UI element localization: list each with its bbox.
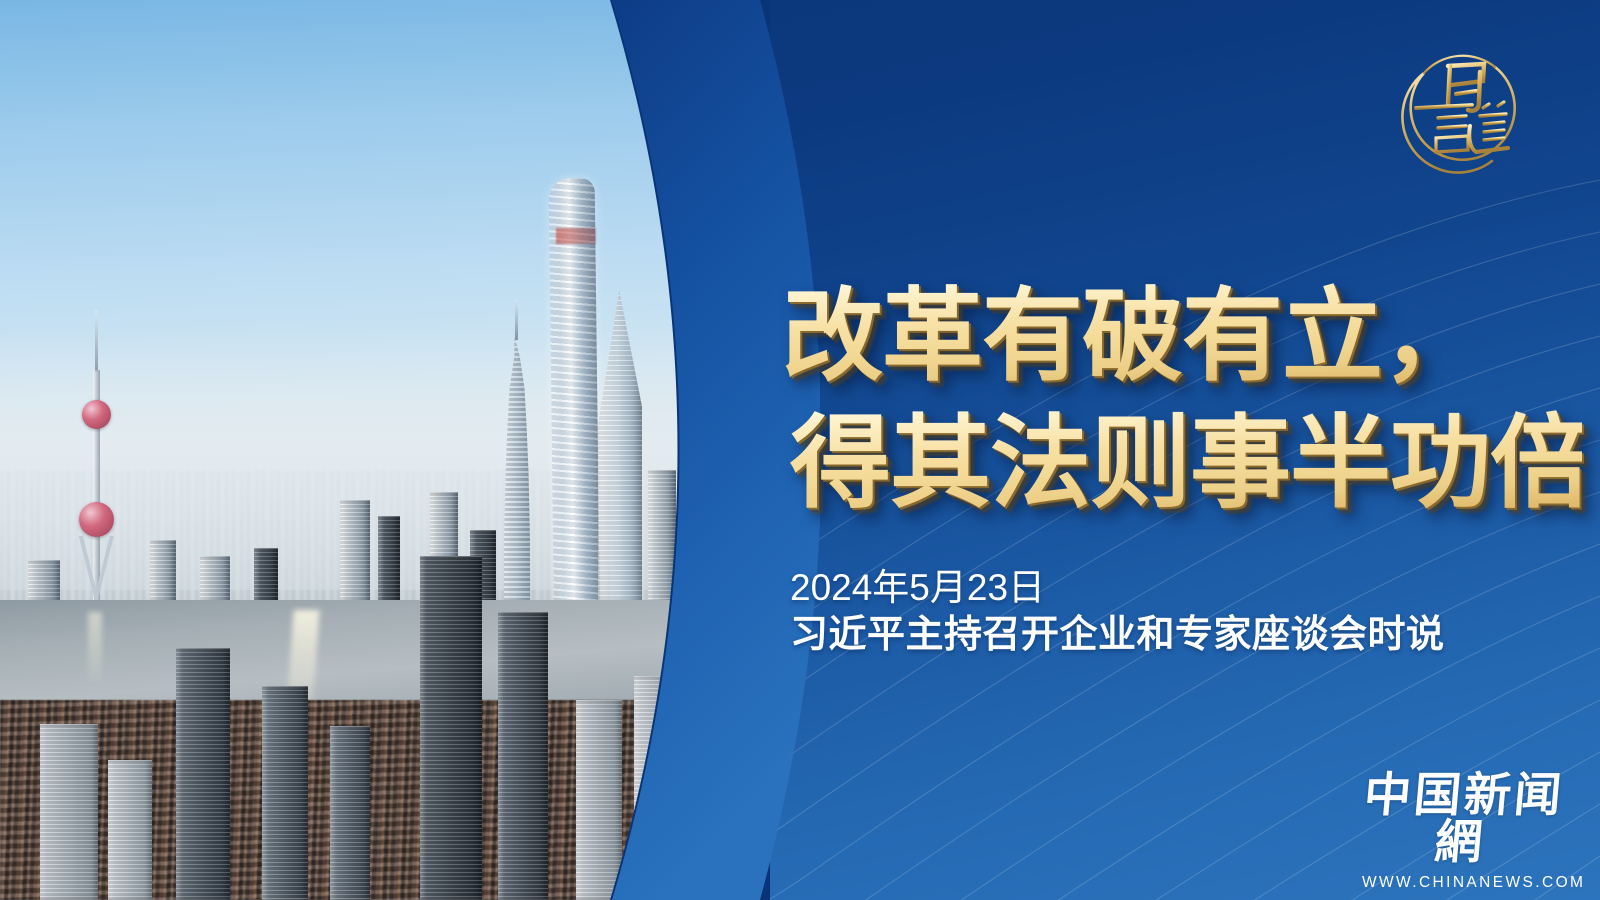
shanghai-tower-band bbox=[556, 228, 596, 244]
foreground-tower bbox=[330, 726, 370, 900]
title-line-1: 改革有破有立， bbox=[782, 272, 1582, 399]
river-sun-glint bbox=[88, 612, 102, 682]
seal-artwork bbox=[1388, 42, 1528, 182]
foreground-tower bbox=[176, 648, 230, 900]
subtitle-date: 2024年5月23日 bbox=[790, 565, 1445, 611]
xi-yan-dao-seal bbox=[1388, 42, 1528, 182]
poster-canvas: 改革有破有立， 得其法则事半功倍 2024年5月23日 习近平主持召开企业和专家… bbox=[0, 0, 1600, 900]
foreground-tower bbox=[420, 556, 482, 900]
chinanews-logo-url: WWW.CHINANEWS.COM bbox=[1362, 875, 1562, 891]
chinanews-logo-chinese: 中国新闻網 bbox=[1358, 772, 1566, 866]
seal-char-yan bbox=[1416, 105, 1472, 152]
subtitle-block: 2024年5月23日 习近平主持召开企业和专家座谈会时说 bbox=[790, 565, 1445, 661]
oriental-pearl-upper-sphere bbox=[82, 400, 111, 429]
foreground-tower bbox=[40, 724, 98, 900]
foreground-tower bbox=[634, 676, 678, 900]
jinmao-spire bbox=[515, 300, 518, 340]
foreground-tower bbox=[262, 686, 308, 900]
title-line-2: 得其法则事半功倍 bbox=[790, 399, 1582, 526]
foreground-tower bbox=[498, 612, 548, 900]
oriental-pearl-spire bbox=[95, 310, 98, 372]
foreground-tower bbox=[108, 760, 152, 900]
foreground-tower bbox=[576, 700, 622, 900]
subtitle-context: 习近平主持召开企业和专家座谈会时说 bbox=[790, 611, 1445, 660]
oriental-pearl-lower-sphere bbox=[79, 502, 114, 537]
chinanews-logo: 中国新闻網 WWW.CHINANEWS.COM bbox=[1362, 772, 1562, 891]
main-title: 改革有破有立， 得其法则事半功倍 bbox=[782, 272, 1582, 527]
shanghai-skyline-photo bbox=[0, 0, 770, 900]
photo-content bbox=[0, 0, 770, 900]
